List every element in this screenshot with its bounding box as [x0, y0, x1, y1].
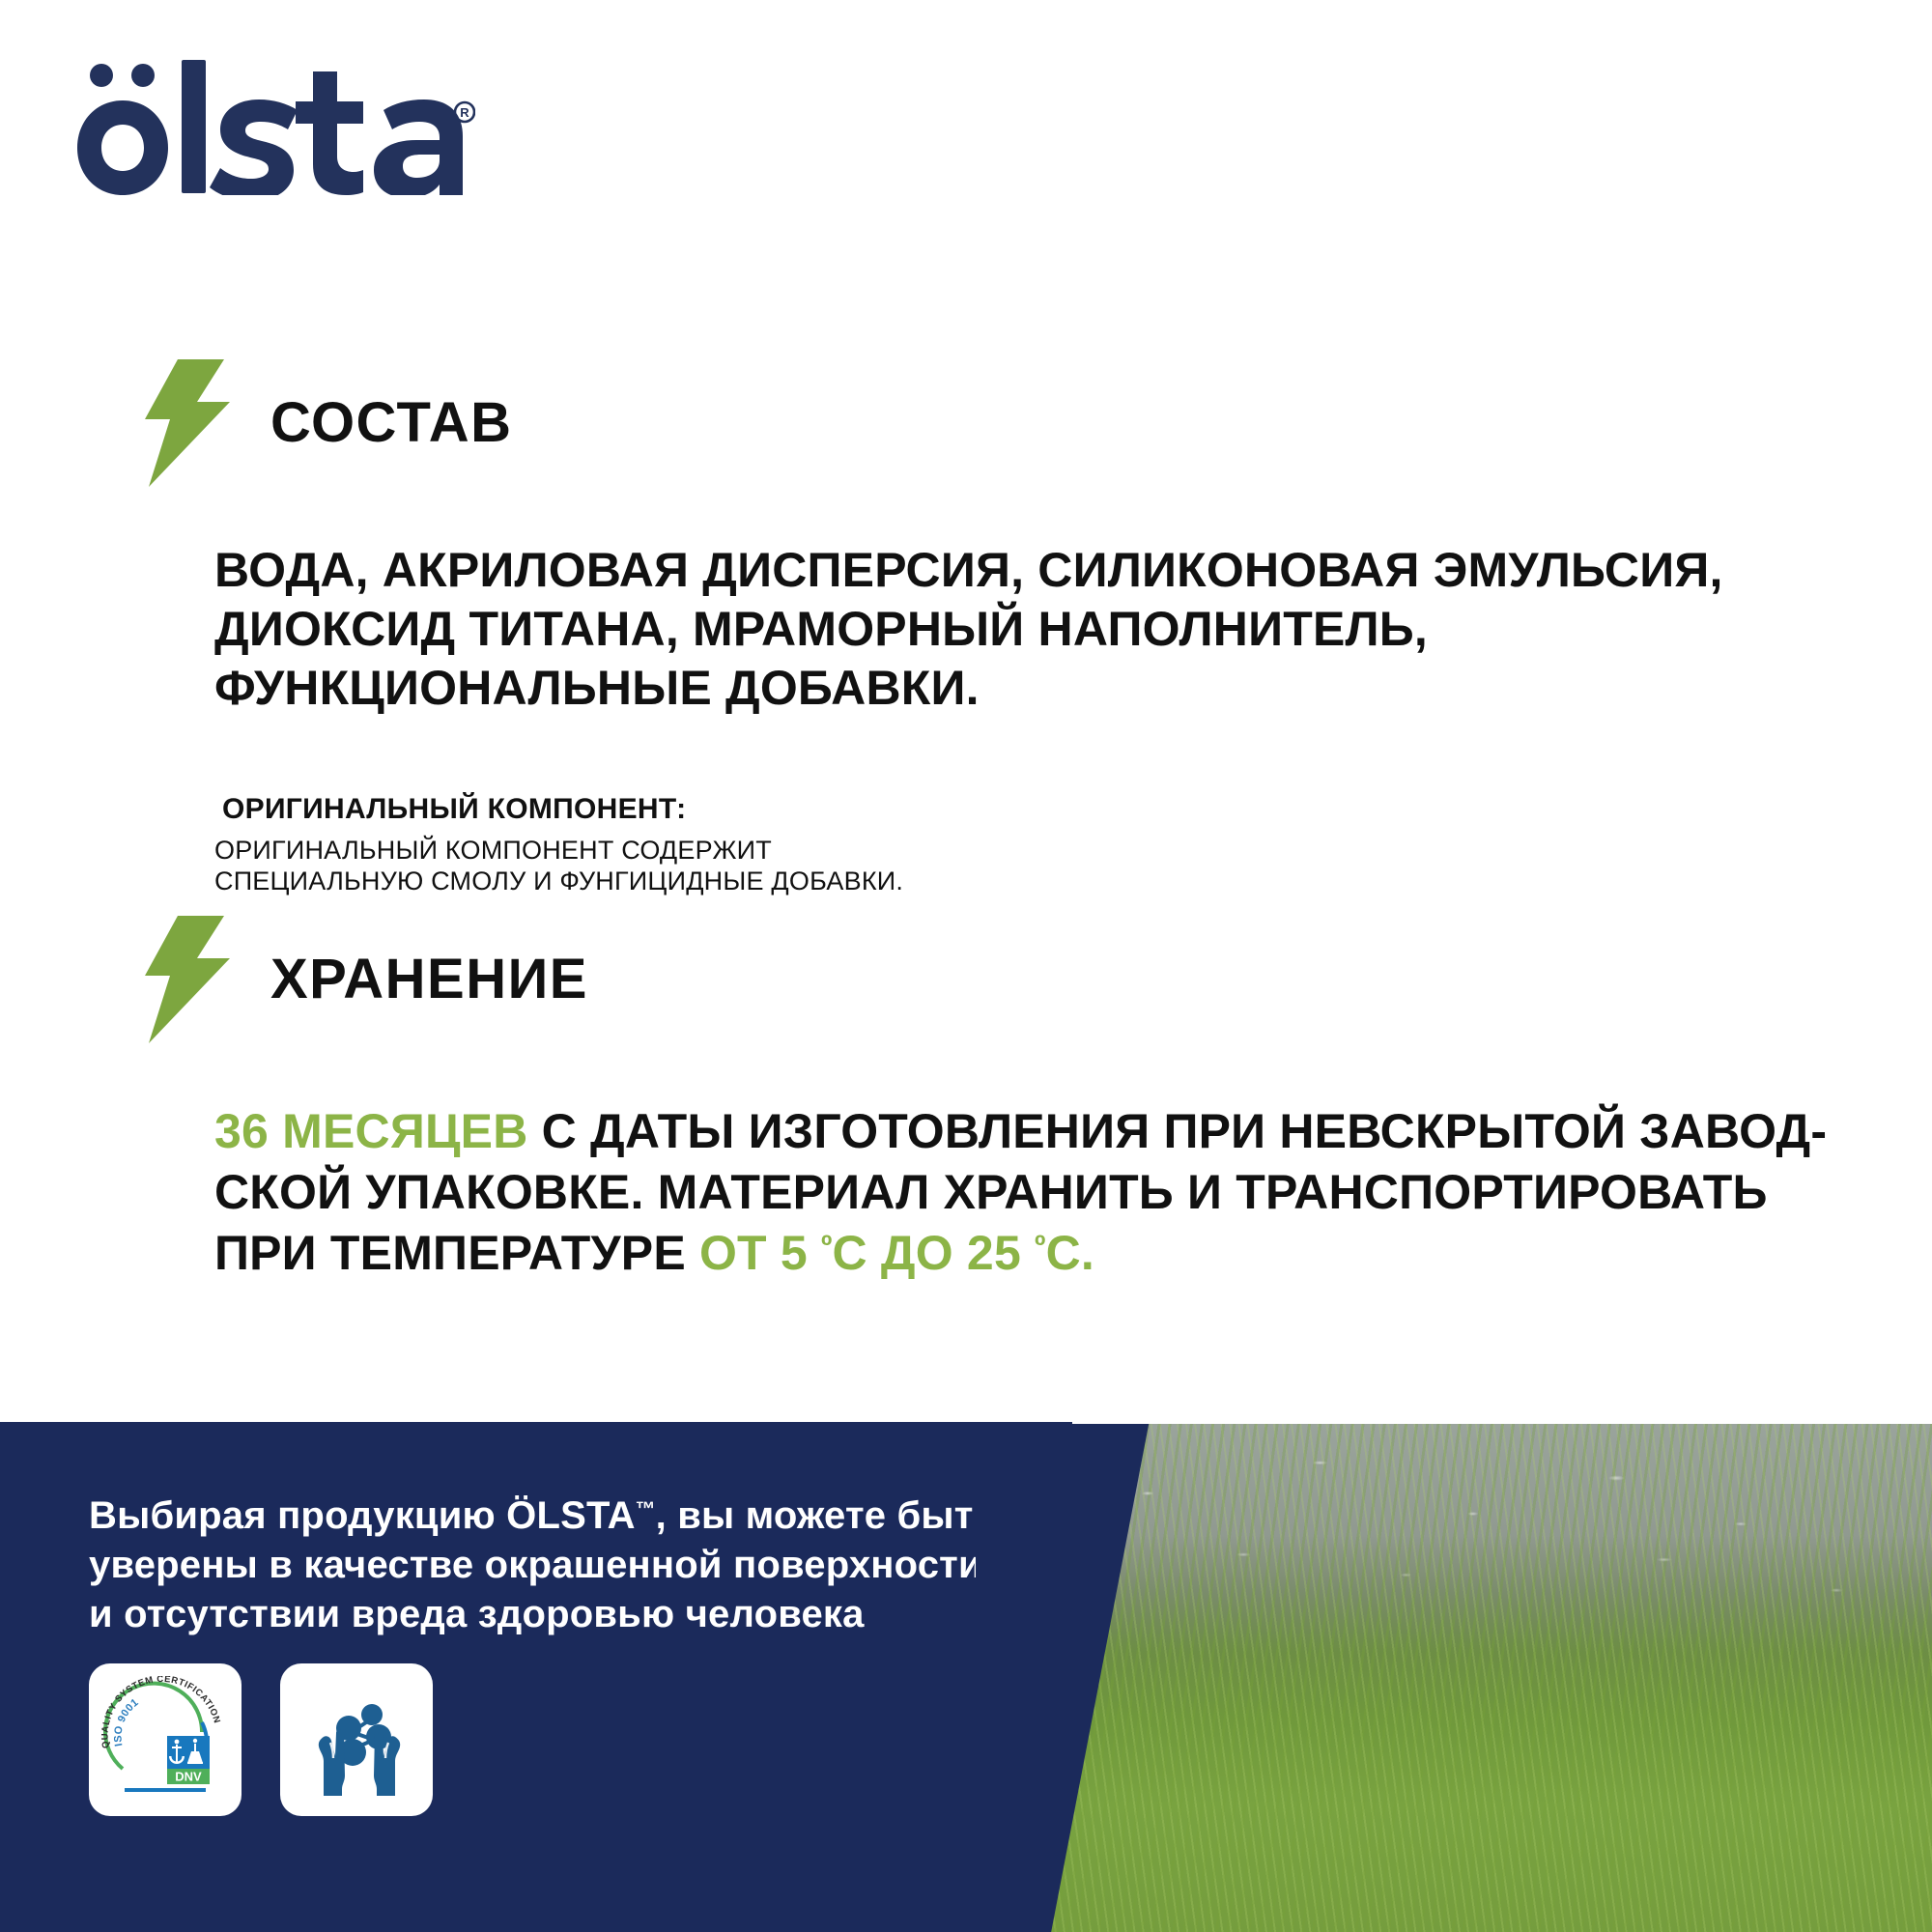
original-component-line-2: СПЕЦИАЛЬНУЮ СМОЛУ И ФУНГИЦИДНЫЕ ДОБАВКИ.	[214, 867, 1876, 897]
storage-duration-highlight: 36 МЕСЯЦЕВ	[214, 1104, 528, 1158]
brand-logo: R	[70, 60, 475, 195]
storage-header: ХРАНЕНИЕ	[0, 916, 1932, 1043]
degree-symbol-b: º	[1035, 1229, 1046, 1263]
iso-9001-dnv-badge: QUALITY SYSTEM CERTIFICATION ISO 9001	[89, 1663, 241, 1816]
certification-badges: QUALITY SYSTEM CERTIFICATION ISO 9001	[89, 1663, 433, 1816]
lightning-bolt-icon	[143, 359, 232, 487]
original-component-description: ОРИГИНАЛЬНЫЙ КОМПОНЕНТ СОДЕРЖИТ СПЕЦИАЛЬ…	[214, 836, 1876, 897]
composition-text: ВОДА, АКРИЛОВАЯ ДИСПЕРСИЯ, СИЛИКОНОВАЯ Э…	[214, 541, 1876, 718]
original-component-line-1: ОРИГИНАЛЬНЫЙ КОМПОНЕНТ СОДЕРЖИТ	[214, 836, 1876, 867]
storage-title: ХРАНЕНИЕ	[270, 952, 588, 1008]
storage-line-3: ПРИ ТЕМПЕРАТУРЕ ОТ 5 ºС ДО 25 ºС.	[214, 1223, 1876, 1284]
section-storage: ХРАНЕНИЕ	[0, 916, 1932, 1043]
composition-title: СОСТАВ	[270, 395, 513, 451]
footer-line-1-a: Выбирая продукцию ÖLSTA	[89, 1494, 636, 1537]
lightning-bolt-icon	[143, 916, 232, 1043]
iso-9001-dnv-badge-icon: QUALITY SYSTEM CERTIFICATION ISO 9001	[101, 1676, 229, 1804]
photo-top-whitespace	[1072, 1381, 1932, 1424]
storage-temp-range: ОТ 5 ºС ДО 25 ºС.	[699, 1226, 1094, 1280]
section-composition: СОСТАВ	[0, 359, 1932, 487]
olsta-logo-svg: R	[70, 60, 475, 195]
svg-text:R: R	[460, 105, 469, 120]
temp-from: ОТ 5	[699, 1226, 821, 1280]
badge-dnv-text: DNV	[175, 1770, 202, 1784]
degree-symbol-a: º	[821, 1229, 833, 1263]
storage-line-1: 36 МЕСЯЦЕВ С ДАТЫ ИЗГОТОВЛЕНИЯ ПРИ НЕВСК…	[214, 1101, 1876, 1162]
safe-for-health-badge	[280, 1663, 433, 1816]
composition-header: СОСТАВ	[0, 359, 1932, 487]
original-component-label: ОРИГИНАЛЬНЫЙ КОМПОНЕНТ:	[214, 793, 1876, 826]
trademark-icon: ™	[636, 1498, 656, 1520]
storage-temp-prefix: ПРИ ТЕМПЕРАТУРЕ	[214, 1226, 699, 1280]
temp-unit-b: С.	[1046, 1226, 1094, 1280]
storage-line-2: СКОЙ УПАКОВКЕ. МАТЕРИАЛ ХРАНИТЬ И ТРАНСП…	[214, 1162, 1876, 1223]
footer-message: Выбирая продукцию ÖLSTA™, вы можете быть…	[89, 1492, 1007, 1640]
temp-unit-a: С ДО 25	[833, 1226, 1036, 1280]
storage-line-1-rest: С ДАТЫ ИЗГОТОВЛЕНИЯ ПРИ НЕВСКРЫТОЙ ЗАВОД…	[528, 1104, 1828, 1158]
hands-holding-molecules-icon	[298, 1682, 414, 1798]
footer-line-1-b: , вы можете быть	[656, 1494, 998, 1537]
footer-bar: Выбирая продукцию ÖLSTA™, вы можете быть…	[0, 1422, 1932, 1932]
registered-trademark-icon: R	[455, 102, 474, 122]
product-photo	[976, 1422, 1932, 1932]
footer-line-3: и отсутствии вреда здоровью человека	[89, 1593, 865, 1635]
product-info-page: R СОСТАВ ВОДА, АКРИЛОВАЯ ДИСПЕРСИЯ, СИЛИ…	[0, 0, 1932, 1932]
storage-body: 36 МЕСЯЦЕВ С ДАТЫ ИЗГОТОВЛЕНИЯ ПРИ НЕВСК…	[214, 1101, 1876, 1284]
footer-line-2: уверены в качестве окрашенной поверхност…	[89, 1544, 982, 1586]
composition-body: ВОДА, АКРИЛОВАЯ ДИСПЕРСИЯ, СИЛИКОНОВАЯ Э…	[214, 541, 1876, 897]
